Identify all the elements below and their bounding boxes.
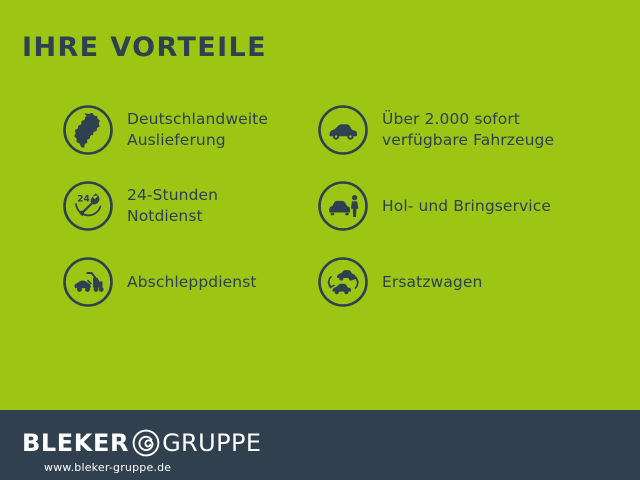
svg-text:24: 24: [77, 195, 90, 205]
benefits-column-left: Deutschlandweite Auslieferung 24 24-Stun…: [62, 92, 322, 320]
benefit-label: Deutschlandweite Auslieferung: [127, 109, 268, 151]
benefit-label: Ersatzwagen: [382, 272, 482, 293]
brand-logo: BLEKER GRUPPE: [22, 428, 261, 458]
benefit-item-24-stunden-notdienst: 24 24-Stunden Notdienst: [62, 168, 322, 244]
benefit-item-deutschlandweite-auslieferung: Deutschlandweite Auslieferung: [62, 92, 322, 168]
circle-spiral-monogram-icon: [131, 428, 161, 458]
logo-secondary-text: GRUPPE: [162, 431, 261, 455]
benefit-item-ersatzwagen: Ersatzwagen: [317, 244, 617, 320]
tow-truck-icon: [62, 256, 114, 308]
benefit-label: Über 2.000 sofort verfügbare Fahrzeuge: [382, 109, 554, 151]
benefits-column-right: Über 2.000 sofort verfügbare Fahrzeuge H…: [317, 92, 617, 320]
benefit-label: Hol- und Bringservice: [382, 196, 551, 217]
benefit-item-hol-und-bringservice: Hol- und Bringservice: [317, 168, 617, 244]
germany-map-icon: [62, 104, 114, 156]
benefit-label: 24-Stunden Notdienst: [127, 185, 218, 227]
logo-primary-text: BLEKER: [22, 431, 129, 455]
two-cars-swap-icon: [317, 256, 369, 308]
website-url: www.bleker-gruppe.de: [44, 461, 171, 474]
benefit-label: Abschleppdienst: [127, 272, 257, 293]
car-with-person-icon: [317, 180, 369, 232]
benefit-item-abschleppdienst: Abschleppdienst: [62, 244, 322, 320]
benefit-item-verfuegbare-fahrzeuge: Über 2.000 sofort verfügbare Fahrzeuge: [317, 92, 617, 168]
car-side-icon: [317, 104, 369, 156]
page-title: IHRE VORTEILE: [22, 34, 267, 61]
advantages-slide: IHRE VORTEILE Deutschlandweite Ausliefer…: [0, 0, 640, 480]
24-hour-wrench-icon: 24: [62, 180, 114, 232]
